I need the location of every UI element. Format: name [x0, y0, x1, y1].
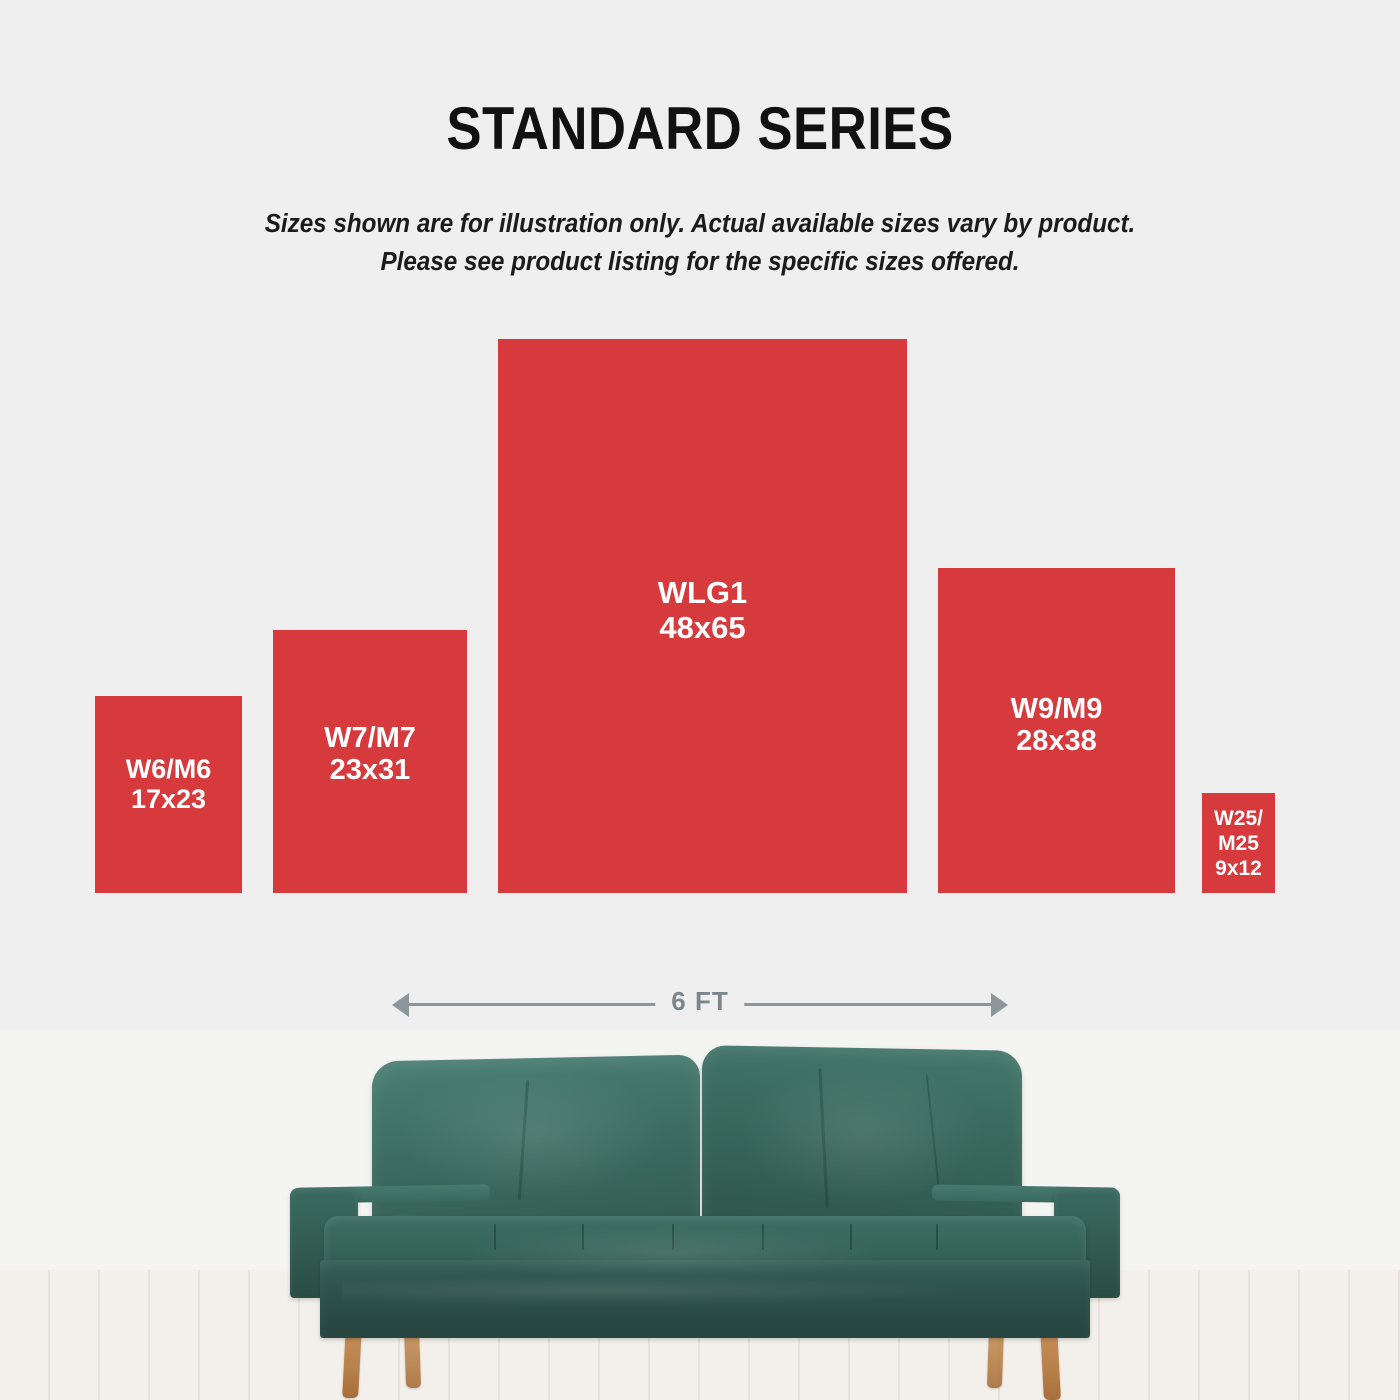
- frame-label-name: WLG1: [658, 576, 748, 611]
- frame-label-size: 28x38: [1016, 725, 1097, 757]
- frame-label-size: 9x12: [1215, 857, 1262, 882]
- frame-label-name: W6/M6: [126, 754, 212, 784]
- frame-label-name-2: M25: [1218, 832, 1259, 857]
- frame-swatch-w25[interactable]: W25/ M25 9x12: [1202, 793, 1275, 893]
- frame-swatch-w6[interactable]: W6/M6 17x23: [95, 696, 242, 893]
- frame-label-size: 17x23: [131, 784, 206, 814]
- infographic-canvas: STANDARD SERIES Sizes shown are for illu…: [0, 0, 1400, 1400]
- sofa-seat-tuft: [936, 1224, 938, 1250]
- frame-label-name-1: W25/: [1214, 807, 1263, 832]
- measurement-label: 6 FT: [655, 982, 744, 1021]
- room-scene: [0, 1030, 1400, 1400]
- measurement-indicator: 6 FT: [392, 990, 1008, 1020]
- frame-swatch-w7[interactable]: W7/M7 23x31: [273, 630, 467, 893]
- sofa-seat-tuft: [850, 1224, 852, 1250]
- frame-label-size: 23x31: [330, 754, 411, 786]
- frame-label-size: 48x65: [659, 611, 745, 646]
- frame-size-comparison: W6/M6 17x23 W7/M7 23x31 WLG1 48x65 W9/M9…: [0, 0, 1400, 940]
- sofa-illustration: [282, 1038, 1122, 1400]
- sofa-seat-tuft: [672, 1224, 674, 1250]
- sofa-seat-tuft: [762, 1224, 764, 1250]
- sofa-base-highlight: [342, 1276, 992, 1306]
- frame-label-name: W7/M7: [324, 722, 416, 754]
- frame-swatch-wlg1[interactable]: WLG1 48x65: [498, 339, 907, 893]
- sofa-seat-tuft: [494, 1224, 496, 1250]
- frame-label-name: W9/M9: [1011, 693, 1103, 725]
- sofa-seat-tuft: [582, 1224, 584, 1250]
- frame-swatch-w9[interactable]: W9/M9 28x38: [938, 568, 1175, 893]
- arrow-right-icon: [991, 993, 1008, 1017]
